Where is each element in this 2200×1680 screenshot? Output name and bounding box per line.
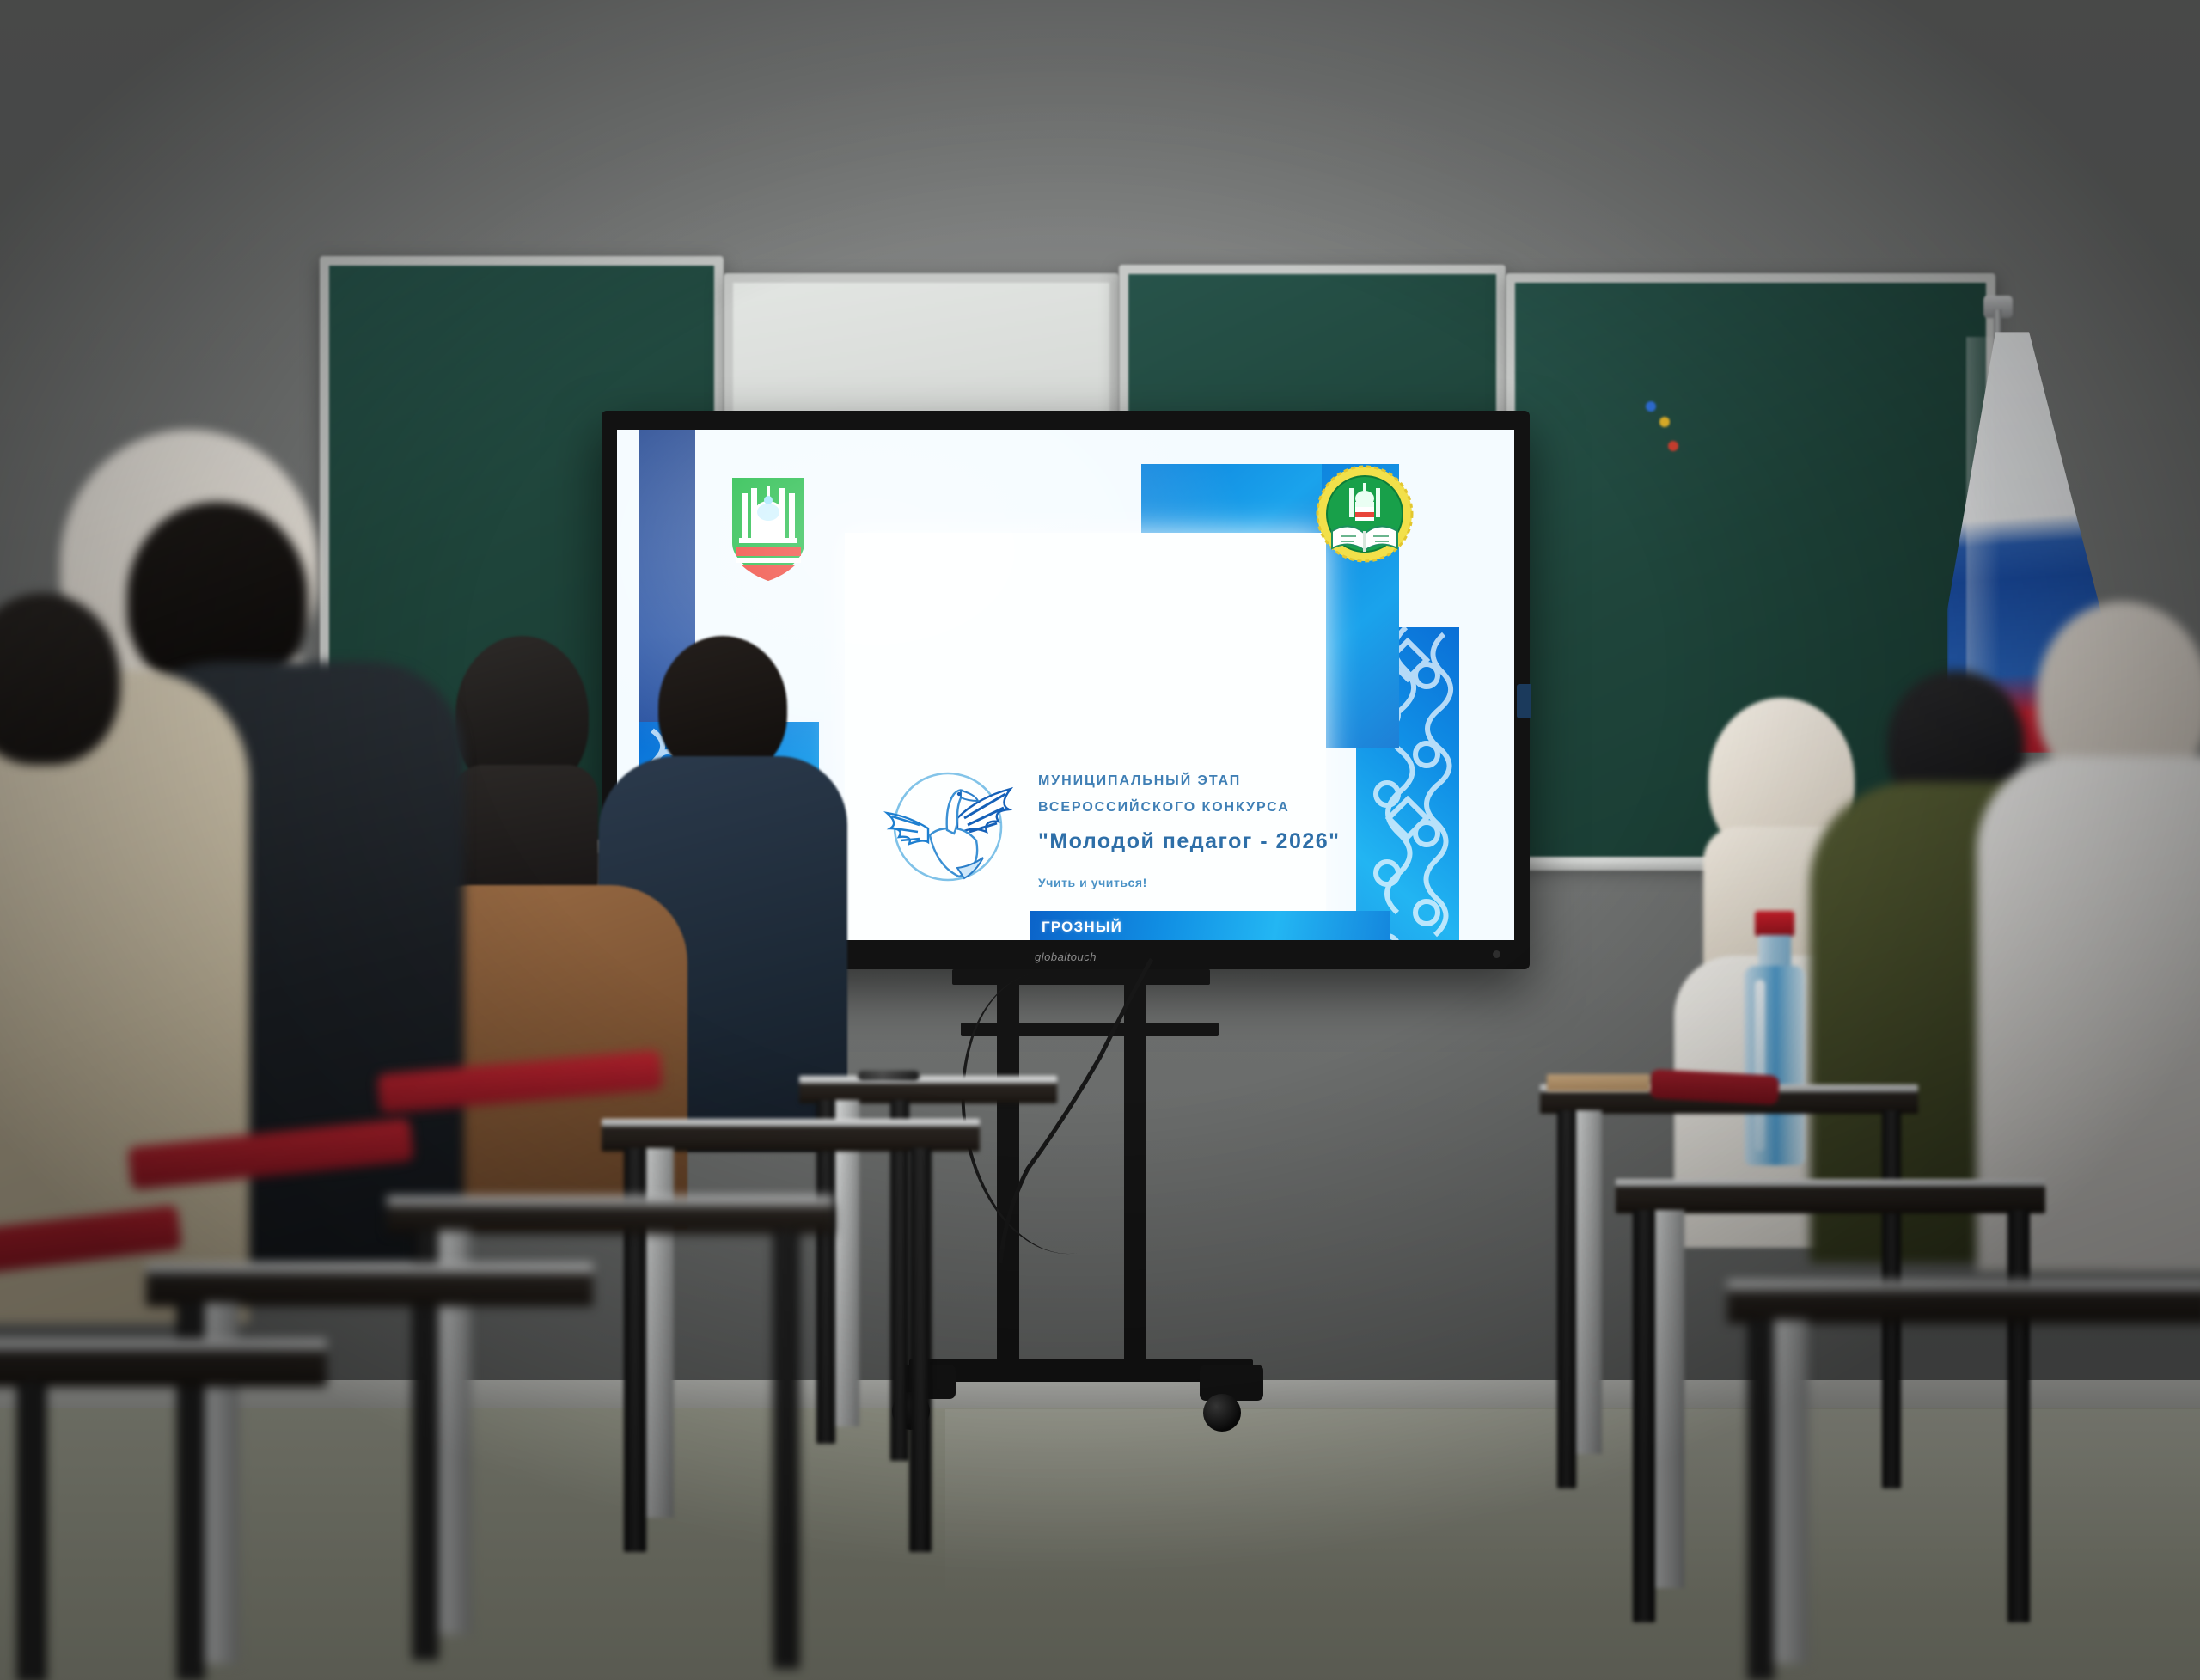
magnet-blue bbox=[1646, 401, 1656, 412]
desk-surface bbox=[387, 1203, 834, 1234]
desk-leg bbox=[1633, 1210, 1655, 1622]
desk-leg bbox=[1748, 1320, 1774, 1680]
desk-leg bbox=[2007, 1210, 2030, 1622]
slide-motto: Учить и учиться! bbox=[1038, 876, 1313, 889]
desk-edge bbox=[387, 1196, 834, 1206]
slide-heading-line1: МУНИЦИПАЛЬНЫЙ ЭТАП bbox=[1038, 773, 1313, 789]
desk-surface bbox=[146, 1272, 593, 1306]
slide-heading-line2: ВСЕРОССИЙСКОГО КОНКУРСА bbox=[1038, 800, 1313, 816]
magnet-yellow bbox=[1659, 417, 1670, 427]
desk-modesty-panel bbox=[1655, 1210, 1684, 1588]
notebook-on-desk bbox=[1547, 1074, 1650, 1091]
display-side-button[interactable] bbox=[1517, 684, 1531, 718]
desk-edge bbox=[799, 1076, 1057, 1084]
desk-leg bbox=[773, 1231, 799, 1669]
desk-leg bbox=[1557, 1110, 1576, 1488]
bottle-body bbox=[1745, 966, 1805, 1165]
slide-city-label: ГРОЗНЫЙ bbox=[1042, 919, 1122, 936]
desk-edge bbox=[1616, 1179, 2045, 1187]
desk-modesty-panel bbox=[1774, 1320, 1808, 1664]
desk-surface bbox=[0, 1349, 327, 1387]
desk-leg bbox=[816, 1100, 835, 1444]
desk-edge bbox=[146, 1263, 593, 1274]
magnet-red bbox=[1668, 441, 1678, 451]
desk-modesty-panel bbox=[1576, 1110, 1602, 1454]
title-underline bbox=[1038, 864, 1296, 864]
display-ir-sensor bbox=[1493, 950, 1500, 958]
cart-caster-wheel-right bbox=[1203, 1394, 1241, 1432]
desk-surface bbox=[1727, 1289, 2200, 1323]
desk-edge bbox=[0, 1339, 327, 1351]
bottle-highlight bbox=[1755, 980, 1765, 1152]
slide-title: "Молодой педагог - 2026" bbox=[1038, 829, 1313, 854]
bottle-neck bbox=[1758, 935, 1791, 969]
desk-leg bbox=[890, 1100, 909, 1461]
desk-edge bbox=[602, 1119, 980, 1127]
desk-leg bbox=[17, 1382, 46, 1680]
grozny-coat-of-arms bbox=[727, 474, 810, 584]
education-department-emblem bbox=[1315, 464, 1415, 564]
stylus-pen[interactable] bbox=[858, 1071, 920, 1081]
bottle-cap bbox=[1755, 911, 1794, 937]
pelican-contest-logo bbox=[875, 756, 1021, 907]
water-bottle bbox=[1741, 911, 1808, 1169]
power-cable-path bbox=[945, 954, 1237, 1384]
desk-leg bbox=[909, 1148, 932, 1552]
slide-city-bar: ГРОЗНЫЙ bbox=[1030, 911, 1390, 940]
baseboard bbox=[0, 1380, 2200, 1409]
slide-title-block: МУНИЦИПАЛЬНЫЙ ЭТАП ВСЕРОССИЙСКОГО КОНКУР… bbox=[1038, 773, 1313, 889]
classroom-photo-scene: МУНИЦИПАЛЬНЫЙ ЭТАП ВСЕРОССИЙСКОГО КОНКУР… bbox=[0, 0, 2200, 1680]
desk-edge bbox=[1727, 1280, 2200, 1291]
